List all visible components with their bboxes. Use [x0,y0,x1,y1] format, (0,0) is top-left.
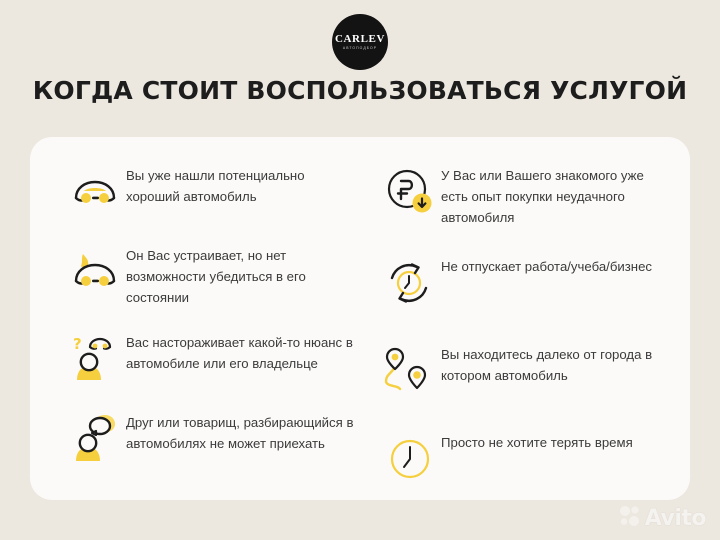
svg-text:?: ? [73,335,82,353]
avito-watermark-label: Avito [645,506,706,531]
map-route-pins-icon [379,342,441,400]
list-item-label: Просто не хотите терять время [441,430,633,453]
benefits-right-column: У Вас или Вашего знакомого уже есть опыт… [369,137,690,500]
clock-refresh-icon [379,254,441,312]
list-item-label: Не отпускает работа/учеба/бизнес [441,254,652,277]
list-item-label: Вы находитесь далеко от города в котором… [441,342,672,386]
list-item: Просто не хотите терять время [379,430,672,488]
list-item: ? Вас настораживает какой-то нюанс в авт… [64,330,357,388]
car-fire-icon [64,243,126,301]
car-icon [64,163,126,221]
list-item: Друг или товарищ, разбирающийся в автомо… [64,410,357,468]
list-item-label: Он Вас устраивает, но нет возможности уб… [126,243,357,308]
list-item: Не отпускает работа/учеба/бизнес [379,254,672,312]
ruble-coin-down-arrow-icon [379,163,441,221]
list-item: У Вас или Вашего знакомого уже есть опыт… [379,163,672,228]
list-item: Он Вас устраивает, но нет возможности уб… [64,243,357,308]
brand-logo-subtitle: АВТОПОДБОР [343,47,377,50]
brand-logo: CARLEV АВТОПОДБОР [332,14,388,70]
list-item-label: Друг или товарищ, разбирающийся в автомо… [126,410,357,454]
slide-canvas: CARLEV АВТОПОДБОР КОГДА СТОИТ ВОСПОЛЬЗОВ… [0,0,720,540]
avito-watermark: Avito [619,505,706,532]
list-item-label: У Вас или Вашего знакомого уже есть опыт… [441,163,672,228]
brand-logo-word: CARLEV [335,34,385,45]
list-item: Вы находитесь далеко от города в котором… [379,342,672,400]
clock-icon [379,430,441,488]
list-item-label: Вы уже нашли потенциально хороший автомо… [126,163,357,207]
person-speech-bubble-icon [64,410,126,468]
person-question-car-icon: ? [64,330,126,388]
avito-dots-icon [619,505,641,532]
benefits-card: Вы уже нашли потенциально хороший автомо… [30,137,690,500]
page-title: КОГДА СТОИТ ВОСПОЛЬЗОВАТЬСЯ УСЛУГОЙ [0,76,720,105]
list-item: Вы уже нашли потенциально хороший автомо… [64,163,357,221]
benefits-columns: Вы уже нашли потенциально хороший автомо… [30,137,690,500]
list-item-label: Вас настораживает какой-то нюанс в автом… [126,330,357,374]
benefits-left-column: Вы уже нашли потенциально хороший автомо… [30,137,369,500]
